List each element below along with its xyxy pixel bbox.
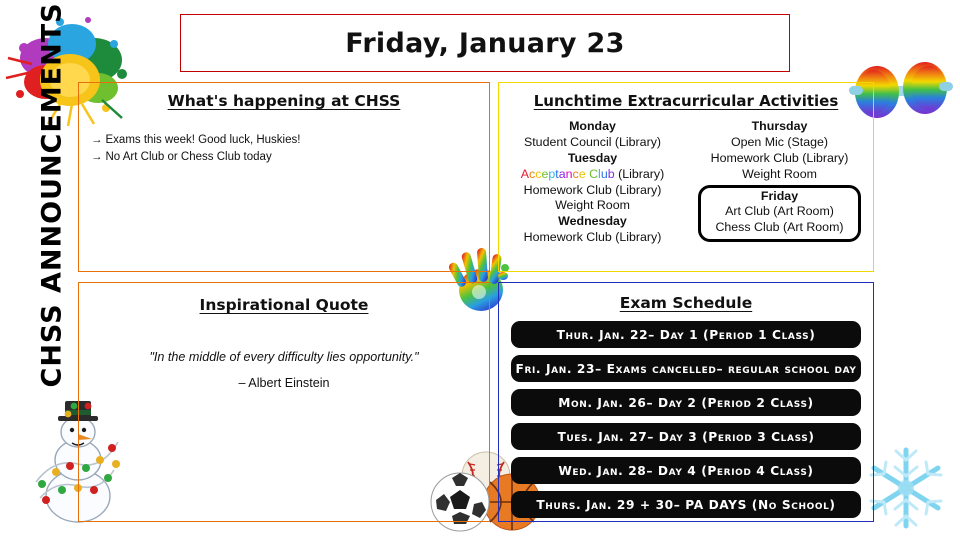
activity-line: Art Club (Art Room) — [705, 204, 854, 220]
exam-schedule-row: Tues. Jan. 27– Day 3 (Period 3 Class) — [511, 423, 861, 450]
activity-day-name: Friday — [705, 189, 854, 205]
panel-lunchtime-activities: Lunchtime Extracurricular Activities Mon… — [498, 82, 874, 272]
arrow-icon: → — [91, 151, 103, 163]
exam-schedule-list: Thur. Jan. 22– Day 1 (Period 1 Class)Fri… — [499, 321, 873, 518]
activity-line: Homework Club (Library) — [499, 183, 686, 199]
friday-highlight-box: FridayArt Club (Art Room)Chess Club (Art… — [698, 185, 861, 243]
exam-schedule-row: Wed. Jan. 28– Day 4 (Period 4 Class) — [511, 457, 861, 484]
panel-inspirational-quote: Inspirational Quote "In the middle of ev… — [78, 282, 490, 522]
activity-location: (Library) — [615, 167, 665, 181]
rainbow-letter: e — [579, 167, 586, 181]
rainbow-letter: a — [559, 167, 566, 181]
activity-line: Homework Club (Library) — [686, 151, 873, 167]
activity-day-name: Monday — [499, 119, 686, 135]
rainbow-letter: u — [601, 167, 608, 181]
activity-day-name: Tuesday — [499, 151, 686, 167]
activity-line: Acceptance Club (Library) — [499, 167, 686, 183]
activity-line: Homework Club (Library) — [499, 230, 686, 246]
panel-whats-happening: What's happening at CHSS →Exams this wee… — [78, 82, 490, 272]
announcement-list: →Exams this week! Good luck, Huskies!→No… — [91, 132, 489, 165]
activity-line: Weight Room — [499, 198, 686, 214]
activity-day-name: Thursday — [686, 119, 873, 135]
page-title: Friday, January 23 — [345, 28, 624, 59]
exam-schedule-row: Thur. Jan. 22– Day 1 (Period 1 Class) — [511, 321, 861, 348]
activity-line: Open Mic (Stage) — [686, 135, 873, 151]
announcement-text: No Art Club or Chess Club today — [106, 151, 272, 163]
exam-schedule-row: Thurs. Jan. 29 + 30– PA DAYS (No School) — [511, 491, 861, 518]
exam-schedule-row: Fri. Jan. 23– Exams cancelled– regular s… — [511, 355, 861, 382]
rainbow-letter: b — [608, 167, 615, 181]
announcement-text: Exams this week! Good luck, Huskies! — [106, 134, 301, 146]
rainbow-letter: C — [589, 167, 598, 181]
arrow-icon: → — [91, 134, 103, 146]
exam-schedule-row: Mon. Jan. 26– Day 2 (Period 2 Class) — [511, 389, 861, 416]
exam-schedule-title: Exam Schedule — [499, 294, 873, 312]
activities-column-right: ThursdayOpen Mic (Stage)Homework Club (L… — [686, 119, 873, 246]
activity-line: Student Council (Library) — [499, 135, 686, 151]
activities-title: Lunchtime Extracurricular Activities — [499, 92, 873, 110]
announcement-item: →No Art Club or Chess Club today — [91, 149, 489, 166]
announcement-item: →Exams this week! Good luck, Huskies! — [91, 132, 489, 149]
panel-exam-schedule: Exam Schedule Thur. Jan. 22– Day 1 (Peri… — [498, 282, 874, 522]
activity-line: Weight Room — [686, 167, 873, 183]
whats-happening-title: What's happening at CHSS — [79, 92, 489, 110]
quote-author: – Albert Einstein — [79, 376, 489, 390]
quote-title: Inspirational Quote — [79, 296, 489, 314]
sidebar-vertical-title: CHSS ANNOUNCEMENTS — [37, 68, 68, 388]
activity-day-name: Wednesday — [499, 214, 686, 230]
activity-line: Chess Club (Art Room) — [705, 220, 854, 236]
header-date-box: Friday, January 23 — [180, 14, 790, 72]
activities-column-left: MondayStudent Council (Library)TuesdayAc… — [499, 119, 686, 246]
rainbow-letter: A — [521, 167, 529, 181]
quote-text: "In the middle of every difficulty lies … — [79, 350, 489, 364]
rainbow-letter: n — [566, 167, 573, 181]
